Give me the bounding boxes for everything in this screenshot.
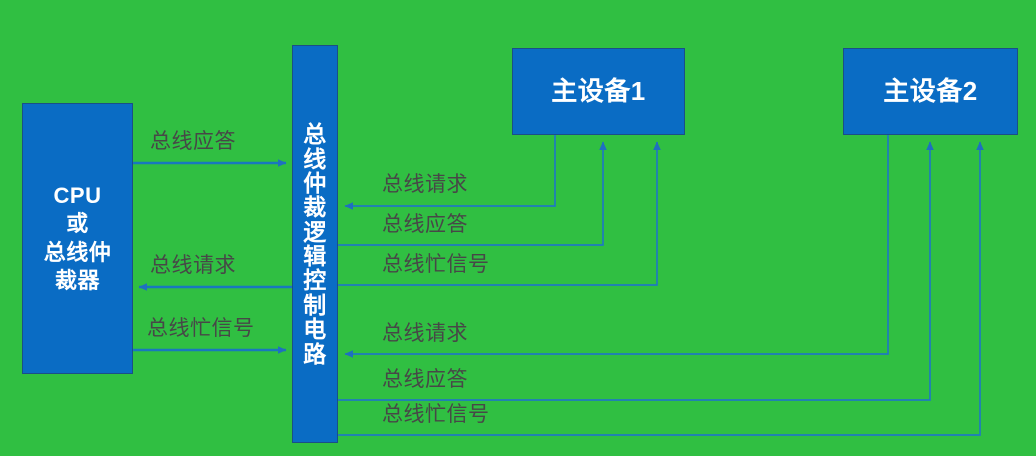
node-master-device-1[interactable]: 主设备1: [512, 48, 685, 135]
arbiter-char-10: 路: [303, 342, 327, 366]
cpu-label-line-2: 或: [66, 210, 89, 238]
arbiter-char-9: 电: [303, 317, 327, 341]
edge-label-cpu-bus-ack: 总线应答: [150, 131, 236, 152]
edge-label-cpu-bus-req: 总线请求: [150, 255, 236, 276]
arbiter-char-8: 制: [303, 293, 327, 317]
arbiter-char-4: 裁: [303, 195, 327, 219]
arbiter-char-1: 总: [303, 122, 327, 146]
edge-label-master2-bus-busy: 总线忙信号: [382, 404, 490, 425]
edge-label-master1-bus-busy: 总线忙信号: [382, 254, 490, 275]
master2-label: 主设备2: [883, 75, 977, 108]
arbiter-char-7: 控: [303, 268, 327, 292]
master1-label: 主设备1: [551, 75, 645, 108]
edge-label-cpu-bus-busy: 总线忙信号: [147, 318, 255, 339]
edge-label-master2-bus-req: 总线请求: [382, 323, 468, 344]
arbiter-char-6: 辑: [303, 244, 327, 268]
edge-label-master1-bus-req: 总线请求: [382, 174, 468, 195]
node-master-device-2[interactable]: 主设备2: [843, 48, 1018, 135]
cpu-label-line-1: CPU: [54, 182, 102, 210]
arbiter-char-2: 线: [303, 147, 327, 171]
edge-label-master2-bus-ack: 总线应答: [382, 369, 468, 390]
node-cpu-or-bus-arbiter[interactable]: CPU 或 总线仲 裁器: [22, 103, 133, 374]
node-bus-arbitration-logic-control-circuit[interactable]: 总 线 仲 裁 逻 辑 控 制 电 路: [292, 45, 338, 443]
cpu-label-line-3: 总线仲: [44, 239, 112, 267]
cpu-label-line-4: 裁器: [55, 267, 100, 295]
arbiter-char-3: 仲: [303, 171, 327, 195]
edge-label-master1-bus-ack: 总线应答: [382, 214, 468, 235]
arbiter-char-5: 逻: [303, 220, 327, 244]
wire-master1-bus-ack: [338, 142, 603, 245]
bus-arbitration-diagram: CPU 或 总线仲 裁器 总 线 仲 裁 逻 辑 控 制 电 路 主设备1 主设…: [0, 0, 1036, 456]
